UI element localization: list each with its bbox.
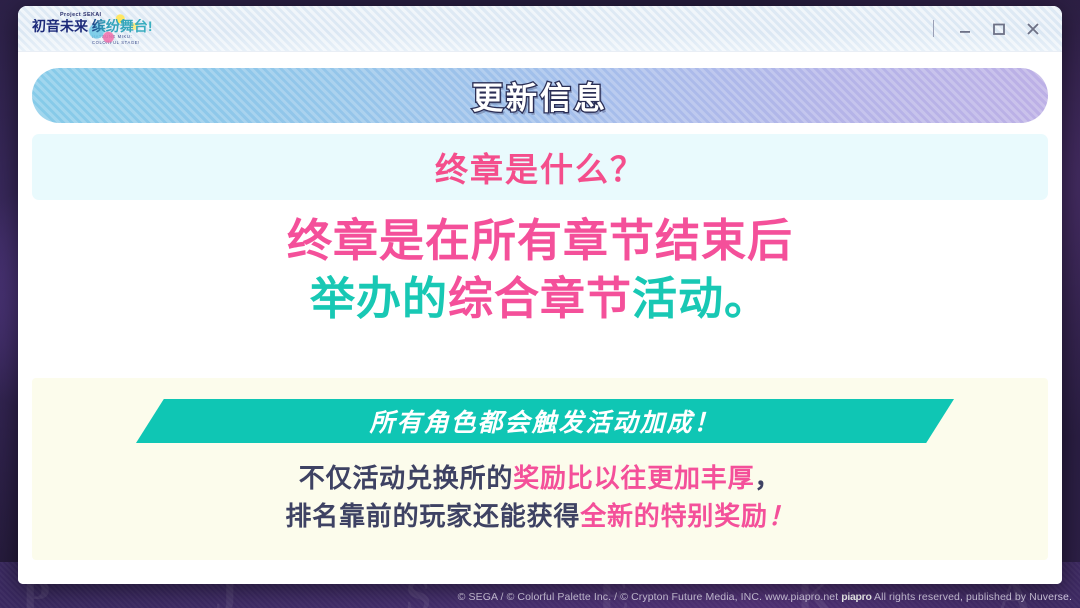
news-page: 更新信息 终章是什么？ 终章是在所有章节结束后 举办的综合章节活动。 所有角色都…: [18, 52, 1062, 584]
app-logo: Project SEKAI 初音未来 缤纷舞台! HATSUNE MIKU: C…: [30, 11, 152, 47]
window-controls: [933, 14, 1062, 44]
statement-line-1: 终章是在所有章节结束后: [32, 212, 1048, 270]
close-icon: [1024, 20, 1042, 38]
minimize-button[interactable]: [948, 14, 982, 44]
update-info-banner: 更新信息: [32, 68, 1048, 123]
app-window: Project SEKAI 初音未来 缤纷舞台! HATSUNE MIKU: C…: [18, 6, 1062, 584]
statement-block: 终章是在所有章节结束后 举办的综合章节活动。: [32, 212, 1048, 328]
reward-card: 所有角色都会触发活动加成！ 不仅活动兑换所的奖励比以往更加丰厚， 排名靠前的玩家…: [32, 378, 1048, 560]
reward-line-2-b: 全新的特别奖励: [580, 501, 768, 531]
reward-line-1-b: 奖励比以往更加丰厚: [513, 463, 754, 493]
logo-title: 初音未来 缤纷舞台!: [32, 19, 152, 34]
copyright-bar: © SEGA / © Colorful Palette Inc. / © Cry…: [0, 586, 1080, 608]
maximize-button[interactable]: [982, 14, 1016, 44]
question-band: 终章是什么？: [32, 134, 1048, 200]
copyright-text: © SEGA / © Colorful Palette Inc. / © Cry…: [458, 591, 1072, 603]
maximize-icon: [991, 21, 1007, 37]
reward-ribbon: 所有角色都会触发活动加成！: [136, 399, 954, 443]
reward-line-1: 不仅活动兑换所的奖励比以往更加丰厚，: [32, 458, 1048, 495]
question-text: 终章是什么？: [435, 143, 645, 191]
reward-line-1-a: 不仅活动兑换所的: [299, 463, 513, 493]
update-info-title: 更新信息: [472, 73, 608, 118]
title-bar: Project SEKAI 初音未来 缤纷舞台! HATSUNE MIKU: C…: [18, 6, 1062, 52]
statement-line-2-part-1: 举办: [310, 273, 402, 324]
reward-ribbon-text: 所有角色都会触发活动加成！: [369, 403, 720, 439]
copyright-post: All rights reserved, published by Nuvers…: [874, 591, 1072, 603]
reward-line-2: 排名靠前的玩家还能获得全新的特别奖励！: [32, 496, 1048, 533]
statement-line-2-part-3: 综合章节: [448, 273, 632, 324]
reward-line-2-a: 排名靠前的玩家还能获得: [285, 501, 580, 531]
window-controls-divider: [933, 20, 934, 37]
statement-line-2-part-4: 活动。: [632, 273, 770, 324]
copyright-pre: © SEGA / © Colorful Palette Inc. / © Cry…: [458, 591, 839, 603]
minimize-icon: [957, 21, 973, 37]
piapro-logo-text: piapro: [841, 591, 871, 603]
reward-line-2-c: ！: [768, 501, 795, 531]
reward-line-1-c: ，: [754, 463, 781, 493]
statement-line-2-part-2: 的: [402, 273, 448, 324]
statement-line-2: 举办的综合章节活动。: [32, 270, 1048, 328]
close-button[interactable]: [1016, 14, 1050, 44]
